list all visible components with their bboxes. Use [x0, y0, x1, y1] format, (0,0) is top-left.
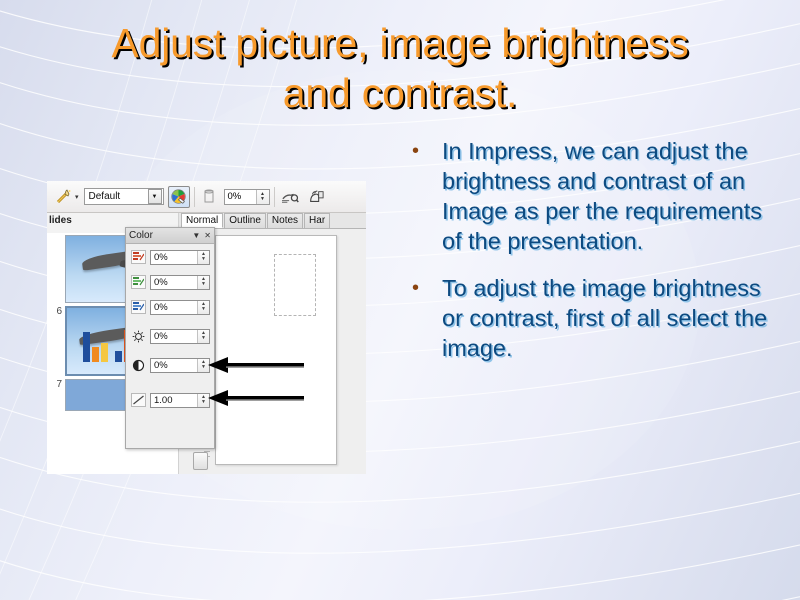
graphics-style-value: Default	[85, 191, 148, 202]
contrast-value: 0%	[151, 360, 197, 371]
chart-bar	[115, 351, 122, 362]
brightness-value: 0%	[151, 331, 197, 342]
tab-normal[interactable]: Normal	[181, 213, 223, 228]
green-value-spinner[interactable]: 0% ▲ ▼	[150, 275, 210, 290]
embedded-screenshot-image: ▾ Default ▼	[47, 181, 366, 474]
text-placeholder-box[interactable]	[274, 254, 316, 316]
spinner-down-icon[interactable]: ▼	[201, 365, 206, 370]
gamma-icon[interactable]	[131, 393, 146, 407]
brightness-value-spinner[interactable]: 0% ▲ ▼	[150, 329, 210, 344]
transparency-icon[interactable]	[199, 186, 221, 208]
slide-title: Adjust picture, image brightness and con…	[40, 18, 760, 118]
transparency-spinner[interactable]: 0% ▲ ▼	[224, 189, 270, 205]
brightness-arrow	[208, 357, 306, 373]
spinner-arrows[interactable]: ▲ ▼	[197, 330, 209, 343]
bullet-item-2: • To adjust the image brightness or cont…	[404, 273, 776, 363]
spinner-down-icon[interactable]: ▼	[201, 336, 206, 341]
tab-handout[interactable]: Har	[304, 213, 330, 228]
spinner-down-icon[interactable]: ▼	[201, 282, 206, 287]
bullet-item-1: • In Impress, we can adjust the brightne…	[404, 136, 776, 256]
spinner-down-icon[interactable]: ▼	[201, 257, 206, 262]
green-channel-icon[interactable]	[131, 275, 146, 289]
toolbar-separator	[274, 187, 275, 207]
scroll-button[interactable]	[193, 452, 208, 470]
slide-canvas: Adjust picture, image brightness and con…	[0, 0, 800, 600]
slide-edit-canvas[interactable]	[215, 235, 337, 465]
slide-number: 6	[47, 306, 65, 317]
crop-hand-icon[interactable]	[279, 186, 301, 208]
magic-wand-icon[interactable]	[52, 186, 74, 208]
picture-toolbar: ▾ Default ▼	[47, 181, 366, 213]
green-value: 0%	[151, 277, 197, 288]
chevron-down-icon[interactable]: ▼	[192, 231, 200, 240]
color-row-red: 0% ▲ ▼	[126, 244, 214, 269]
chart-bar	[92, 347, 99, 362]
chevron-down-icon[interactable]: ▼	[148, 189, 162, 204]
fill-hand-icon[interactable]	[305, 186, 327, 208]
spinner-down-icon[interactable]: ▼	[201, 400, 206, 405]
blue-value-spinner[interactable]: 0% ▲ ▼	[150, 300, 210, 315]
color-dialog[interactable]: Color ▼ ✕ 0%	[125, 227, 215, 449]
color-row-brightness: 0% ▲ ▼	[126, 323, 214, 348]
red-value-spinner[interactable]: 0% ▲ ▼	[150, 250, 210, 265]
red-value: 0%	[151, 252, 197, 263]
chart-bar	[83, 332, 90, 362]
color-wheel-icon[interactable]	[168, 186, 190, 208]
brightness-icon[interactable]	[131, 329, 146, 343]
color-row-gamma: 1.00 ▲ ▼	[126, 387, 214, 412]
chevron-down-icon[interactable]: ▾	[75, 193, 79, 201]
chart-bar	[101, 343, 108, 362]
spinner-down-icon[interactable]: ▼	[260, 197, 265, 202]
contrast-arrow	[208, 390, 306, 406]
spinner-arrows[interactable]: ▲ ▼	[197, 276, 209, 289]
color-row-green: 0% ▲ ▼	[126, 269, 214, 294]
red-channel-icon[interactable]	[131, 250, 146, 264]
bullet-marker: •	[404, 136, 442, 166]
tab-outline[interactable]: Outline	[224, 213, 266, 228]
close-icon[interactable]: ✕	[204, 231, 211, 240]
color-row-blue: 0% ▲ ▼	[126, 294, 214, 319]
spinner-arrows[interactable]: ▲ ▼	[256, 190, 269, 204]
spinner-arrows[interactable]: ▲ ▼	[197, 301, 209, 314]
tab-notes[interactable]: Notes	[267, 213, 303, 228]
bullet-marker: •	[404, 273, 442, 303]
graphics-style-combo[interactable]: Default ▼	[84, 188, 164, 205]
bullet-text: In Impress, we can adjust the brightness…	[442, 136, 776, 256]
bullet-text: To adjust the image brightness or contra…	[442, 273, 776, 363]
transparency-value: 0%	[225, 191, 256, 202]
color-row-contrast: 0% ▲ ▼	[126, 352, 214, 377]
screenshot-main-area: lides 6	[47, 213, 366, 474]
slide-number: 7	[47, 379, 65, 390]
spinner-arrows[interactable]: ▲ ▼	[197, 251, 209, 264]
blue-channel-icon[interactable]	[131, 300, 146, 314]
gamma-value-spinner[interactable]: 1.00 ▲ ▼	[150, 393, 210, 408]
toolbar-separator	[194, 187, 195, 207]
contrast-value-spinner[interactable]: 0% ▲ ▼	[150, 358, 210, 373]
slide-body: • In Impress, we can adjust the brightne…	[404, 136, 776, 380]
color-dialog-titlebar[interactable]: Color ▼ ✕	[126, 228, 214, 244]
spinner-down-icon[interactable]: ▼	[201, 307, 206, 312]
blue-value: 0%	[151, 302, 197, 313]
contrast-icon[interactable]	[131, 358, 146, 372]
color-dialog-title: Color	[129, 230, 188, 241]
gamma-value: 1.00	[151, 395, 197, 406]
